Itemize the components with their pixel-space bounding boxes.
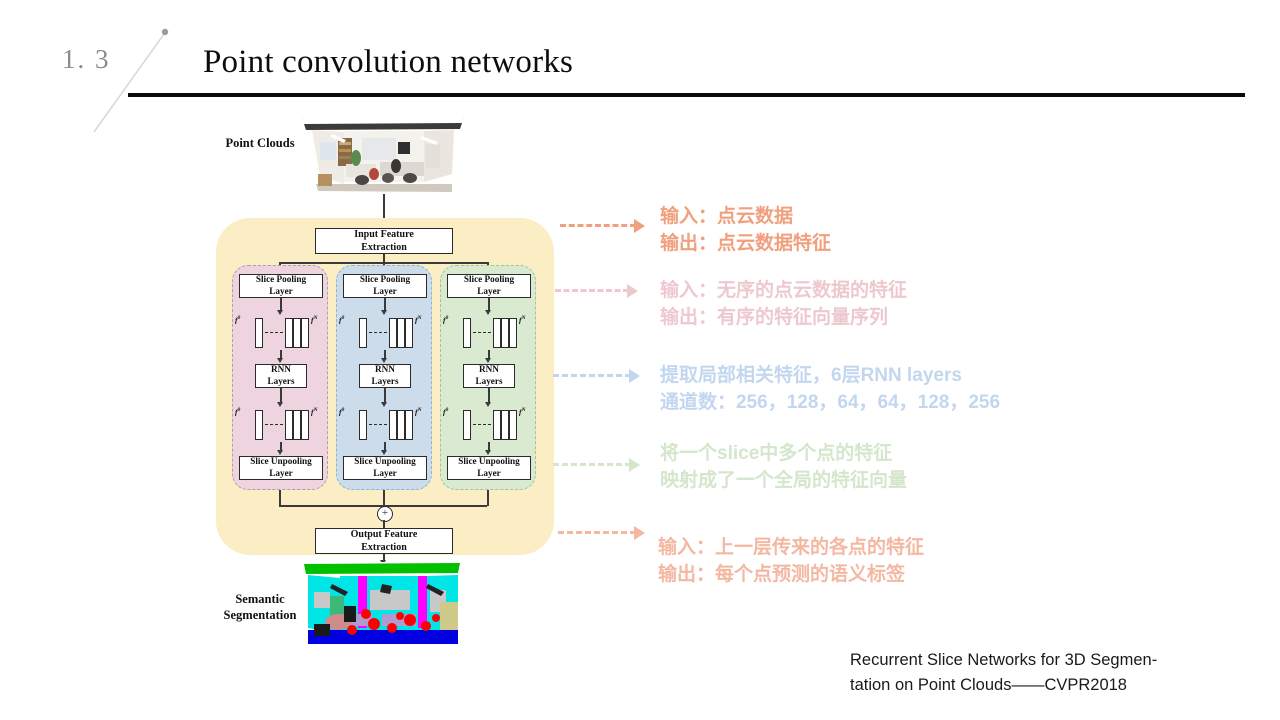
feature-bar — [397, 318, 405, 348]
feature-vector-group-bottom: f0 fN — [245, 408, 317, 442]
annotation-line-1: 输入：点云数据 — [660, 203, 793, 230]
feature-bar — [501, 318, 509, 348]
dashed-arrow-line — [553, 374, 631, 377]
feature-dash — [473, 332, 491, 333]
dashed-arrow-tip — [629, 458, 640, 472]
connector-merge-mid — [383, 490, 385, 506]
input-feature-extraction-box: Input Feature Extraction — [315, 228, 453, 254]
rnn-layers-label: RNN Layers — [371, 364, 398, 388]
feature-dash — [265, 332, 283, 333]
feature-label-f0: f0 — [443, 407, 448, 417]
slice-unpooling-layer-label: Slice Unpooling Layer — [354, 456, 416, 480]
feature-bar — [405, 318, 413, 348]
annotation-line-2: 映射成了一个全局的特征向量 — [660, 467, 907, 494]
feature-dash — [369, 332, 387, 333]
feature-label-fN: fN — [415, 315, 422, 325]
slice-pooling-layer-box: Slice Pooling Layer — [447, 274, 531, 298]
arrowhead — [277, 402, 283, 407]
slice-unpooling-layer-box: Slice Unpooling Layer — [447, 456, 531, 480]
feature-bar — [359, 410, 367, 440]
annotation-line-2: 输出：每个点预测的语义标签 — [658, 561, 905, 588]
dashed-arrow-line — [560, 224, 636, 227]
feature-vector-group-top: f0 fN — [349, 316, 421, 350]
feature-label-fN: fN — [311, 407, 318, 417]
arrowhead — [277, 310, 283, 315]
dashed-arrow-line — [555, 289, 629, 292]
dashed-arrow-line — [553, 463, 631, 466]
branch-panel-pink: Slice Pooling Layer f0 fN RNN Layers f0 … — [232, 265, 328, 490]
feature-bar — [509, 318, 517, 348]
annotation-line-2: 通道数：256，128，64，64，128，256 — [660, 389, 1000, 416]
slice-pooling-layer-label: Slice Pooling Layer — [360, 274, 410, 298]
arrowhead — [485, 310, 491, 315]
feature-bar — [389, 318, 397, 348]
feature-label-fN: fN — [519, 315, 526, 325]
feature-bar — [405, 410, 413, 440]
arrowhead — [381, 310, 387, 315]
slice-unpooling-layer-box: Slice Unpooling Layer — [343, 456, 427, 480]
slice-pooling-layer-label: Slice Pooling Layer — [256, 274, 306, 298]
feature-vector-group-top: f0 fN — [453, 316, 525, 350]
annotation-line-2: 输出：点云数据特征 — [660, 230, 831, 257]
connector-sum-to-output — [383, 520, 385, 528]
label-point-clouds: Point Clouds — [220, 136, 300, 152]
feature-vector-group-top: f0 fN — [245, 316, 317, 350]
arrowhead — [485, 358, 491, 363]
feature-bar — [463, 410, 471, 440]
feature-dash — [369, 424, 387, 425]
annotation-line-2: 输出：有序的特征向量序列 — [660, 304, 888, 331]
annotation-line-1: 提取局部相关特征，6层RNN layers — [660, 362, 962, 389]
output-feature-extraction-box: Output Feature Extraction — [315, 528, 453, 554]
feature-label-f0: f0 — [339, 315, 344, 325]
feature-label-f0: f0 — [235, 315, 240, 325]
feature-bar — [285, 318, 293, 348]
feature-vector-group-bottom: f0 fN — [349, 408, 421, 442]
feature-bar — [493, 410, 501, 440]
feature-vector-group-bottom: f0 fN — [453, 408, 525, 442]
branch-panel-green: Slice Pooling Layer f0 fN RNN Layers f0 … — [440, 265, 536, 490]
label-semantic-segmentation: Semantic Segmentation — [212, 592, 308, 623]
point-cloud-image — [302, 118, 464, 194]
feature-bar — [359, 318, 367, 348]
feature-bar — [293, 410, 301, 440]
feature-bar — [397, 410, 405, 440]
output-feature-extraction-label: Output Feature Extraction — [351, 528, 418, 554]
arrowhead — [277, 450, 283, 455]
feature-bar — [293, 318, 301, 348]
citation-line-2: tation on Point Clouds——CVPR2018 — [850, 673, 1250, 698]
feature-dash — [265, 424, 283, 425]
slice-pooling-layer-box: Slice Pooling Layer — [343, 274, 427, 298]
slice-unpooling-layer-label: Slice Unpooling Layer — [458, 456, 520, 480]
arrowhead — [277, 358, 283, 363]
input-feature-extraction-label: Input Feature Extraction — [354, 228, 414, 254]
rnn-layers-box: RNN Layers — [255, 364, 307, 388]
rnn-layers-label: RNN Layers — [267, 364, 294, 388]
decorative-diagonal-line — [86, 22, 176, 134]
branch-panel-blue: Slice Pooling Layer f0 fN RNN Layers f0 … — [336, 265, 432, 490]
sum-node: + — [377, 506, 393, 522]
arrowhead — [381, 450, 387, 455]
dashed-arrow-tip — [629, 369, 640, 383]
semantic-segmentation-image — [300, 562, 465, 647]
feature-label-f0: f0 — [443, 315, 448, 325]
feature-label-f0: f0 — [235, 407, 240, 417]
feature-bar — [255, 318, 263, 348]
connector-merge-left — [279, 490, 281, 506]
feature-label-fN: fN — [311, 315, 318, 325]
slice-unpooling-layer-box: Slice Unpooling Layer — [239, 456, 323, 480]
annotation-line-1: 将一个slice中多个点的特征 — [660, 440, 892, 467]
feature-bar — [463, 318, 471, 348]
feature-label-f0: f0 — [339, 407, 344, 417]
slide-number: 1. 3 — [62, 44, 111, 75]
citation-line-1: Recurrent Slice Networks for 3D Segmen- — [850, 648, 1250, 673]
rnn-layers-box: RNN Layers — [359, 364, 411, 388]
dashed-arrow-tip — [627, 284, 638, 298]
arrowhead — [381, 358, 387, 363]
feature-bar — [509, 410, 517, 440]
feature-label-fN: fN — [415, 407, 422, 417]
citation: Recurrent Slice Networks for 3D Segmen- … — [850, 648, 1250, 698]
page-title: Point convolution networks — [203, 44, 573, 81]
feature-bar — [255, 410, 263, 440]
feature-bar — [501, 410, 509, 440]
feature-bar — [389, 410, 397, 440]
arrowhead — [485, 450, 491, 455]
feature-dash — [473, 424, 491, 425]
feature-label-fN: fN — [519, 407, 526, 417]
slice-pooling-layer-box: Slice Pooling Layer — [239, 274, 323, 298]
annotation-line-1: 输入：无序的点云数据的特征 — [660, 277, 907, 304]
rnn-layers-label: RNN Layers — [475, 364, 502, 388]
dashed-arrow-line — [558, 531, 636, 534]
title-divider — [128, 93, 1245, 97]
architecture-diagram: Point Clouds Input Feature Extraction Sl… — [210, 110, 560, 650]
arrowhead — [381, 402, 387, 407]
arrowhead — [485, 402, 491, 407]
slice-pooling-layer-label: Slice Pooling Layer — [464, 274, 514, 298]
slice-unpooling-layer-label: Slice Unpooling Layer — [250, 456, 312, 480]
dashed-arrow-tip — [634, 219, 645, 233]
feature-bar — [301, 318, 309, 348]
annotation-line-1: 输入：上一层传来的各点的特征 — [658, 534, 924, 561]
rnn-layers-box: RNN Layers — [463, 364, 515, 388]
feature-bar — [285, 410, 293, 440]
connector-merge-right — [487, 490, 489, 506]
feature-bar — [301, 410, 309, 440]
dashed-arrow-tip — [634, 526, 645, 540]
feature-bar — [493, 318, 501, 348]
